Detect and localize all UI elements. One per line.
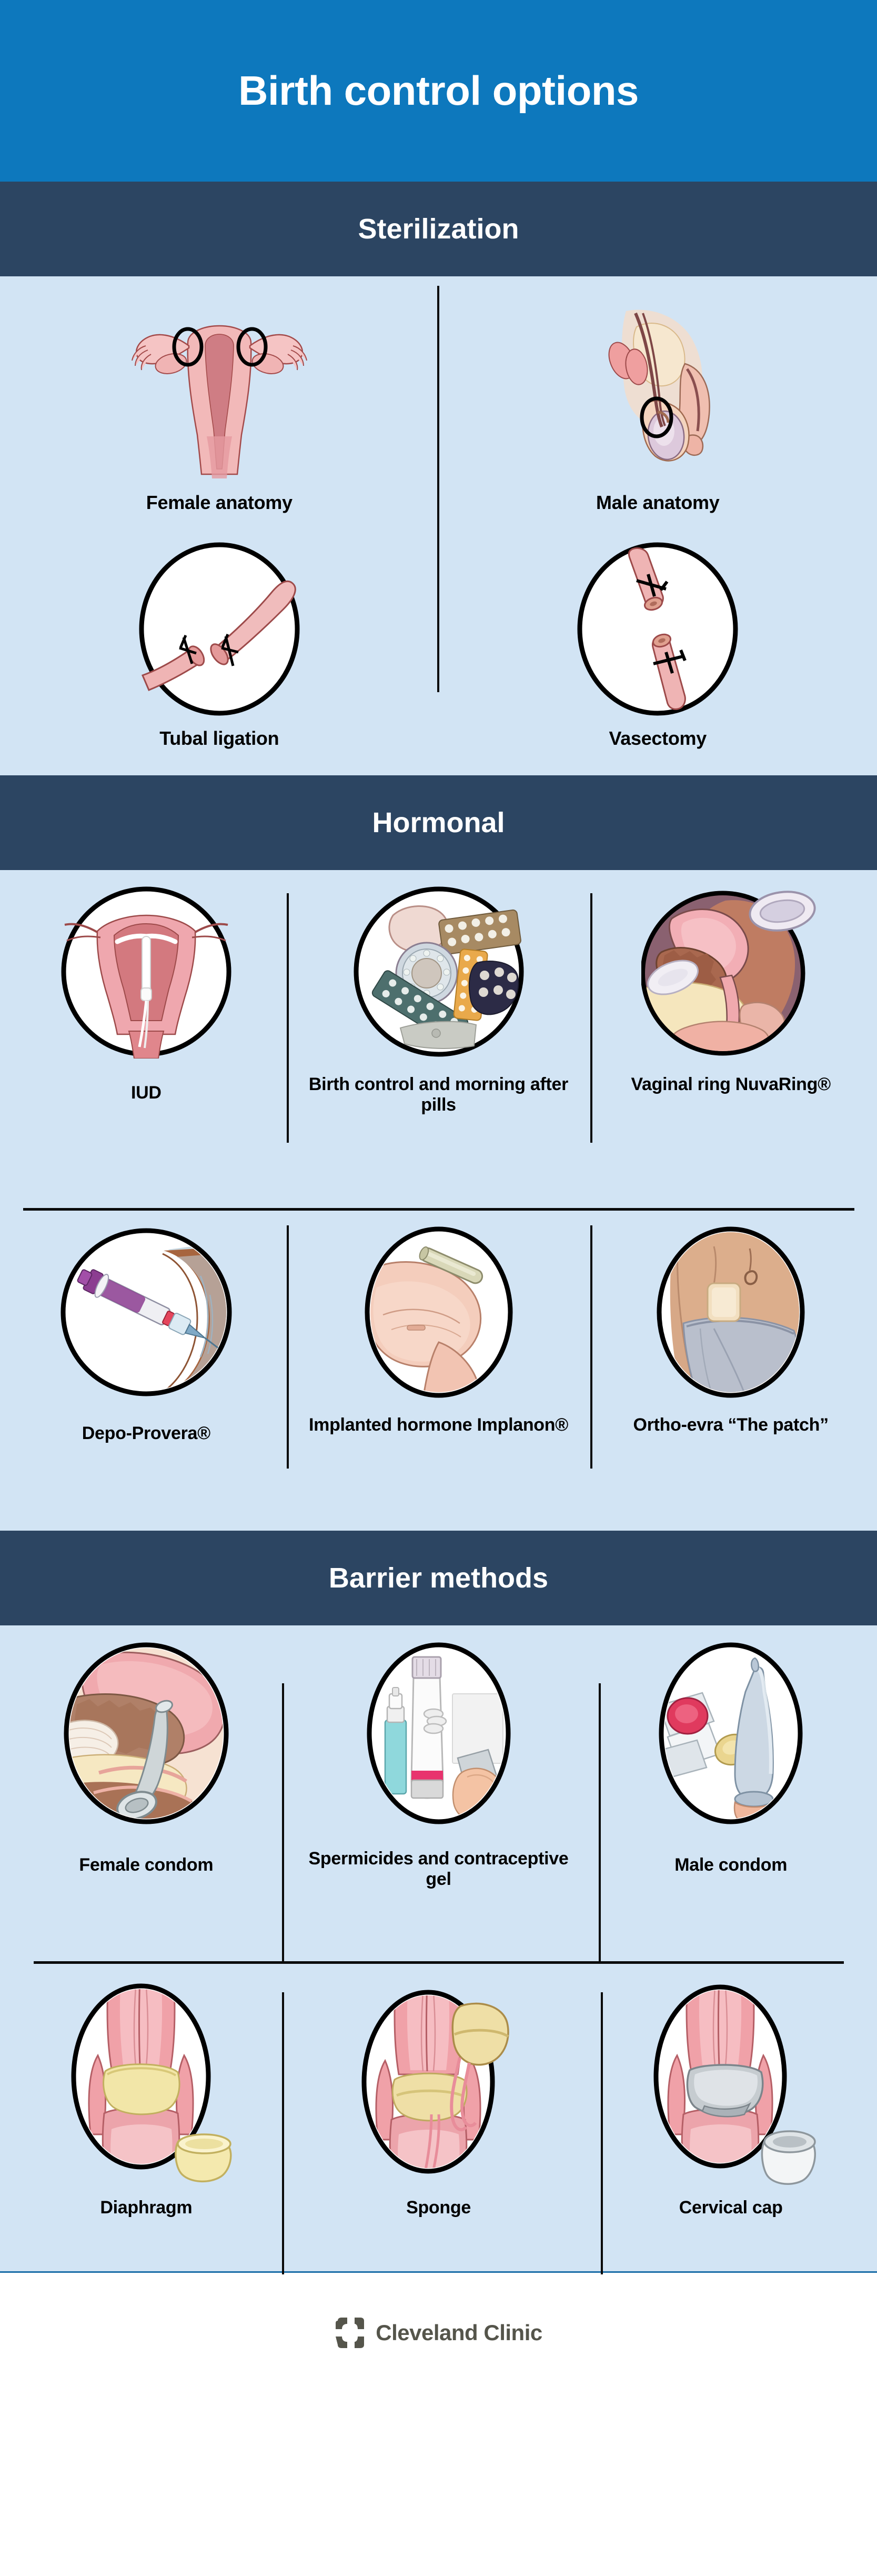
item-implanon[interactable]: Implanted hormone Implanon® xyxy=(293,1225,585,1510)
item-label: Depo-Provera® xyxy=(82,1423,210,1444)
item-label: Female condom xyxy=(79,1855,213,1875)
item-label: Male anatomy xyxy=(596,492,719,513)
section-body-sterilization: Female anatomy xyxy=(0,276,877,775)
cleveland-clinic-logo-mark xyxy=(335,2317,367,2349)
item-vaginal-ring[interactable]: Vaginal ring NuvaRing® xyxy=(584,885,877,1206)
section-heading-text: Barrier methods xyxy=(329,1562,548,1594)
section-header-barrier: Barrier methods xyxy=(0,1531,877,1625)
cleveland-clinic-logo: Cleveland Clinic xyxy=(335,2317,542,2349)
item-depo-provera[interactable]: Depo-Provera® xyxy=(0,1225,293,1510)
item-label: Birth control and morning after pills xyxy=(298,1074,580,1115)
item-label: Ortho-evra “The patch” xyxy=(633,1415,829,1435)
horizontal-divider xyxy=(23,1208,854,1211)
vasectomy-illustration xyxy=(573,540,742,718)
hormonal-row-1: IUD xyxy=(0,885,877,1206)
cervical-cap-illustration xyxy=(641,1976,820,2187)
pill-packs-illustration xyxy=(352,885,526,1059)
arm-implant-illustration xyxy=(360,1225,518,1399)
item-male-anatomy[interactable]: Male anatomy xyxy=(439,295,877,518)
sterilization-row-1: Female anatomy xyxy=(0,276,877,524)
item-label: Vasectomy xyxy=(609,728,707,749)
item-label: Male condom xyxy=(674,1855,787,1875)
female-condom-illustration xyxy=(57,1641,236,1825)
female-reproductive-anatomy-illustration xyxy=(109,295,330,485)
male-reproductive-anatomy-illustration xyxy=(547,295,768,485)
item-male-condom[interactable]: Male condom xyxy=(584,1641,877,1957)
section-body-barrier: Female condom xyxy=(0,1625,877,2271)
item-label: IUD xyxy=(131,1083,162,1103)
item-label: Diaphragm xyxy=(100,2198,192,2218)
title-bar: Birth control options xyxy=(0,0,877,182)
item-label: Female anatomy xyxy=(146,492,293,513)
diaphragm-illustration xyxy=(57,1976,236,2187)
item-ortho-evra-patch[interactable]: Ortho-evra “The patch” xyxy=(584,1225,877,1510)
item-tubal-ligation[interactable]: Tubal ligation xyxy=(0,540,439,749)
item-birth-control-pills[interactable]: Birth control and morning after pills xyxy=(293,885,585,1206)
tubal-ligation-illustration xyxy=(135,540,304,718)
barrier-row-2: Diaphragm xyxy=(0,1976,877,2271)
hormonal-row-2: Depo-Provera® xyxy=(0,1225,877,1531)
section-header-sterilization: Sterilization xyxy=(0,182,877,276)
page-title: Birth control options xyxy=(238,67,639,115)
item-female-condom[interactable]: Female condom xyxy=(0,1641,293,1957)
item-vasectomy[interactable]: Vasectomy xyxy=(439,540,877,749)
item-label: Implanted hormone Implanon® xyxy=(309,1415,568,1435)
barrier-row-1: Female condom xyxy=(0,1641,877,1957)
section-header-hormonal: Hormonal xyxy=(0,775,877,870)
item-female-anatomy[interactable]: Female anatomy xyxy=(0,295,439,518)
item-spermicides[interactable]: Spermicides and contraceptive gel xyxy=(293,1641,585,1957)
male-condom-illustration xyxy=(652,1641,810,1825)
horizontal-divider xyxy=(34,1961,844,1964)
cleveland-clinic-wordmark: Cleveland Clinic xyxy=(376,2320,542,2345)
section-heading-text: Hormonal xyxy=(372,806,505,839)
item-label: Spermicides and contraceptive gel xyxy=(298,1849,580,1890)
injection-syringe-illustration xyxy=(59,1225,233,1399)
skin-patch-illustration xyxy=(652,1225,810,1399)
sponge-illustration xyxy=(349,1976,528,2187)
item-diaphragm[interactable]: Diaphragm xyxy=(0,1976,293,2250)
item-sponge[interactable]: Sponge xyxy=(293,1976,585,2250)
infographic-root: Birth control options Sterilization xyxy=(0,0,877,2271)
item-label: Tubal ligation xyxy=(159,728,279,749)
item-iud[interactable]: IUD xyxy=(0,885,293,1206)
spermicide-tube-illustration xyxy=(360,1641,518,1825)
vaginal-ring-illustration xyxy=(641,885,820,1059)
iud-in-uterus-illustration xyxy=(59,885,233,1059)
section-heading-text: Sterilization xyxy=(358,213,519,245)
item-label: Sponge xyxy=(406,2198,471,2218)
item-label: Cervical cap xyxy=(679,2198,783,2218)
item-cervical-cap[interactable]: Cervical cap xyxy=(584,1976,877,2250)
footer: Cleveland Clinic xyxy=(0,2271,877,2392)
sterilization-row-2: Tubal ligation xyxy=(0,524,877,775)
item-label: Vaginal ring NuvaRing® xyxy=(631,1074,831,1095)
section-body-hormonal: IUD xyxy=(0,870,877,1531)
